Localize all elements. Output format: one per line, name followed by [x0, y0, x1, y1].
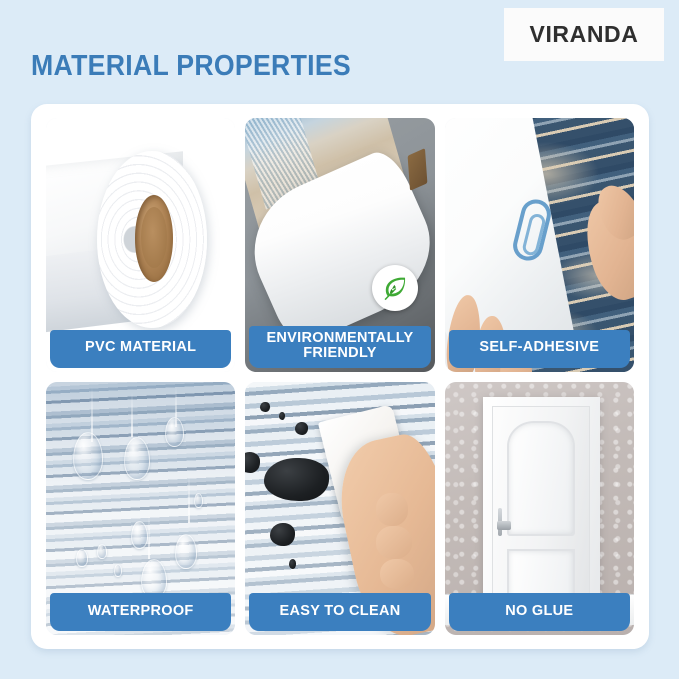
- feature-label-no-glue: NO GLUE: [449, 593, 630, 631]
- feature-label-line-1: ENVIRONMENTALLY: [266, 330, 413, 346]
- page-title: MATERIAL PROPERTIES: [31, 50, 351, 83]
- feature-grid: PVC MATERIAL: [46, 118, 634, 635]
- feature-card-environmentally-friendly[interactable]: ENVIRONMENTALLY FRIENDLY: [245, 118, 434, 372]
- feature-card-waterproof[interactable]: WATERPROOF: [46, 382, 235, 636]
- feature-card-easy-to-clean[interactable]: EASY TO CLEAN: [245, 382, 434, 636]
- brand-logo-text: VIRANDA: [530, 21, 639, 48]
- brand-logo-box: VIRANDA: [504, 8, 664, 61]
- feature-label-waterproof: WATERPROOF: [50, 593, 231, 631]
- feature-label-self-adhesive: SELF-ADHESIVE: [449, 330, 630, 368]
- feature-card-no-glue[interactable]: NO GLUE: [445, 382, 634, 636]
- feature-label-easy-to-clean: EASY TO CLEAN: [249, 593, 430, 631]
- feature-panel: PVC MATERIAL: [31, 104, 649, 649]
- leaf-icon: [372, 265, 418, 311]
- feature-label-pvc-material: PVC MATERIAL: [50, 330, 231, 368]
- feature-label-line-2: FRIENDLY: [303, 345, 377, 361]
- feature-card-pvc-material[interactable]: PVC MATERIAL: [46, 118, 235, 372]
- feature-card-self-adhesive[interactable]: SELF-ADHESIVE: [445, 118, 634, 372]
- feature-label-environmentally-friendly: ENVIRONMENTALLY FRIENDLY: [249, 326, 430, 368]
